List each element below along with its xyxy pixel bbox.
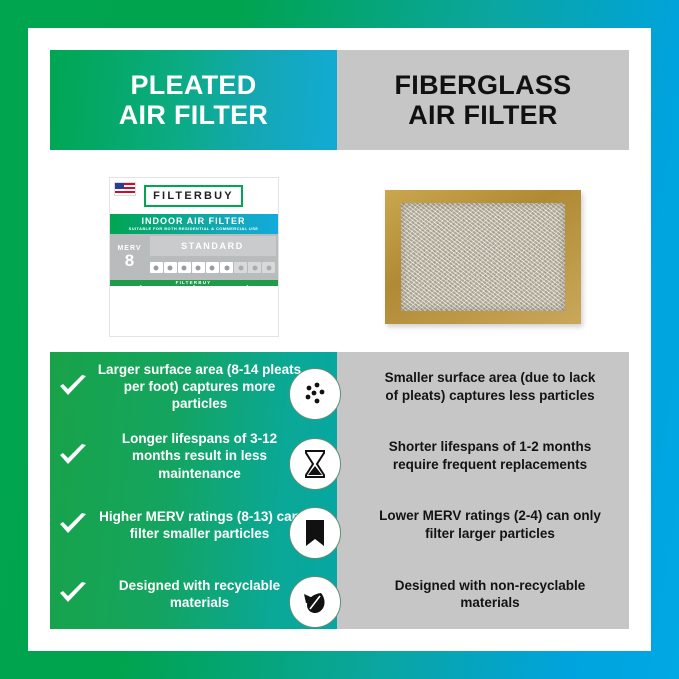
pleated-footer-brand: FILTERBUY bbox=[110, 280, 278, 285]
checkmark-icon bbox=[50, 581, 96, 607]
pleated-merv-value: 8 bbox=[125, 252, 134, 269]
feature-icon-bacteria bbox=[220, 262, 233, 273]
feature-icon-dander bbox=[206, 262, 219, 273]
comparison-right-text: Designed with non-recyclable materials bbox=[337, 577, 629, 613]
fiberglass-mesh bbox=[401, 203, 565, 311]
comparison-right-text: Smaller surface area (due to lack of ple… bbox=[337, 369, 629, 405]
pleated-band-main: INDOOR AIR FILTER bbox=[110, 216, 278, 226]
feature-icon-mold bbox=[192, 262, 205, 273]
header-fiberglass-title: FIBERGLASS AIR FILTER bbox=[394, 70, 571, 130]
header-pleated-line2: AIR FILTER bbox=[119, 100, 268, 130]
pleated-band-sub: SUITABLE FOR BOTH RESIDENTIAL & COMMERCI… bbox=[110, 226, 278, 231]
pleated-support-mesh bbox=[115, 283, 273, 330]
fiberglass-filter-image bbox=[385, 190, 581, 324]
feature-icon-lint bbox=[164, 262, 177, 273]
fiberglass-product-cell bbox=[337, 158, 629, 356]
header-fiberglass-line2: AIR FILTER bbox=[408, 100, 557, 130]
checkmark-icon bbox=[50, 374, 96, 400]
comparison-right-text: Shorter lifespans of 1-2 months require … bbox=[337, 438, 629, 474]
feature-icon-virus bbox=[248, 262, 261, 273]
header-fiberglass-line1: FIBERGLASS bbox=[394, 70, 571, 100]
feature-icon-pollen bbox=[178, 262, 191, 273]
comparison-right-text: Lower MERV ratings (2-4) can only filter… bbox=[337, 507, 629, 543]
usa-flag-icon bbox=[114, 182, 136, 196]
checkmark-icon bbox=[50, 443, 96, 469]
leaf-icon bbox=[289, 576, 341, 628]
pleated-label-top: FILTERBUY bbox=[110, 178, 278, 214]
pleated-spec-area: MERV 8 STANDARD bbox=[110, 234, 278, 280]
infographic-page: PLEATED AIR FILTER FIBERGLASS AIR FILTER bbox=[0, 0, 679, 679]
pleated-media-area: FILTERBUY bbox=[110, 280, 278, 286]
comparison-row: Lower MERV ratings (2-4) can only filter… bbox=[337, 491, 629, 560]
comparison-row: Shorter lifespans of 1-2 months require … bbox=[337, 421, 629, 490]
header-pleated-line1: PLEATED bbox=[130, 70, 256, 100]
pleated-brand-box: FILTERBUY bbox=[144, 185, 243, 207]
pleated-grade-label: STANDARD bbox=[150, 236, 276, 256]
hourglass-icon bbox=[289, 438, 341, 490]
comparison-right-column: Smaller surface area (due to lack of ple… bbox=[337, 352, 629, 629]
feature-icon-odor bbox=[262, 262, 275, 273]
feature-icon-dust bbox=[150, 262, 163, 273]
comparison-row: Designed with non-recyclable materials bbox=[337, 560, 629, 629]
pleated-feature-icons bbox=[150, 257, 278, 280]
header-pleated: PLEATED AIR FILTER bbox=[50, 50, 337, 150]
products-row: FILTERBUY INDOOR AIR FILTER SUITABLE FOR… bbox=[50, 158, 629, 356]
comparison-right-rows: Smaller surface area (due to lack of ple… bbox=[337, 352, 629, 629]
bookmark-icon bbox=[289, 507, 341, 559]
pleated-merv-block: MERV 8 bbox=[110, 234, 150, 280]
checkmark-icon bbox=[50, 512, 96, 538]
header-row: PLEATED AIR FILTER FIBERGLASS AIR FILTER bbox=[50, 50, 629, 150]
pleated-product-cell: FILTERBUY INDOOR AIR FILTER SUITABLE FOR… bbox=[50, 158, 337, 356]
white-card: PLEATED AIR FILTER FIBERGLASS AIR FILTER bbox=[28, 28, 651, 651]
pleated-filter-image: FILTERBUY INDOOR AIR FILTER SUITABLE FOR… bbox=[109, 177, 279, 337]
feature-icon-smoke bbox=[234, 262, 247, 273]
header-fiberglass: FIBERGLASS AIR FILTER bbox=[337, 50, 629, 150]
comparison-row: Smaller surface area (due to lack of ple… bbox=[337, 352, 629, 421]
pleated-band: INDOOR AIR FILTER SUITABLE FOR BOTH RESI… bbox=[110, 214, 278, 234]
particles-icon bbox=[289, 368, 341, 420]
pleated-brand-text: FILTERBUY bbox=[153, 190, 234, 202]
header-pleated-title: PLEATED AIR FILTER bbox=[119, 70, 268, 130]
pleated-spec-right: STANDARD bbox=[150, 234, 278, 280]
